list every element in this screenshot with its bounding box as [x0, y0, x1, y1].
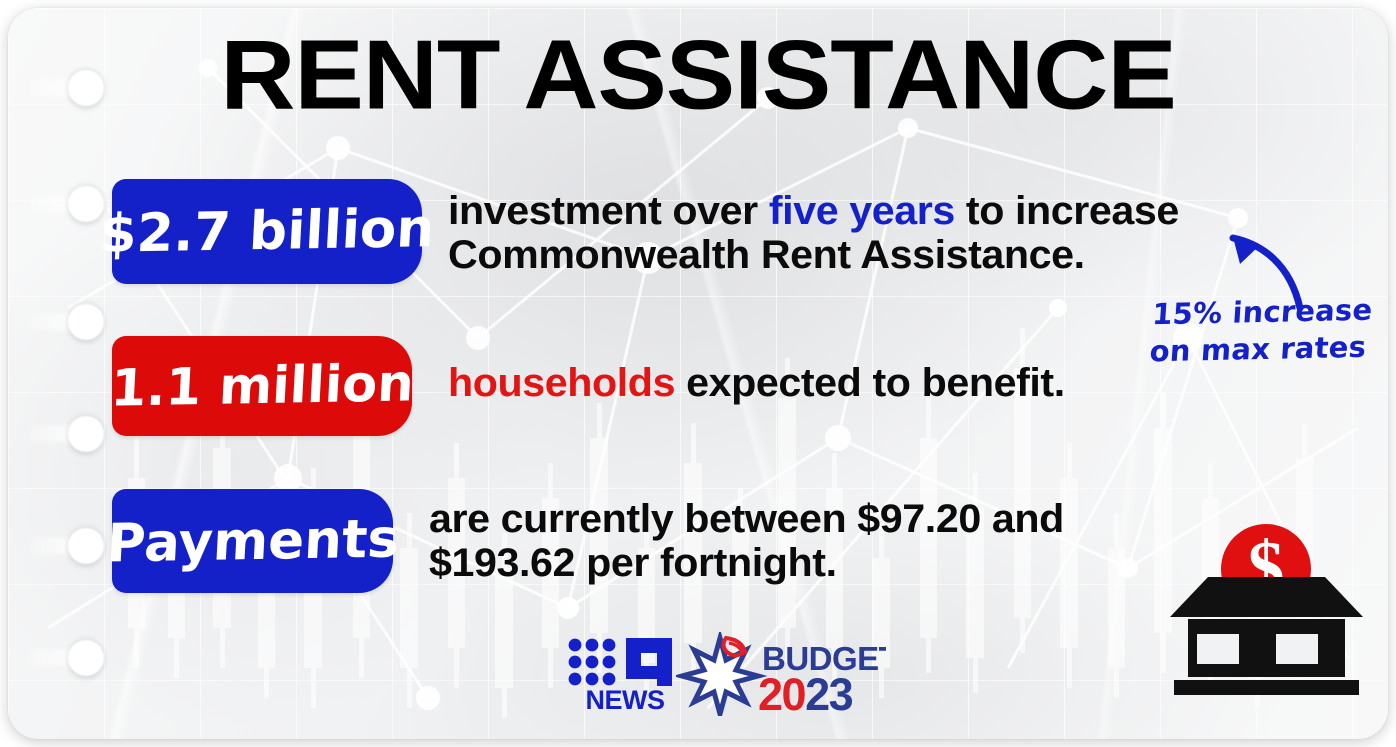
badge-payments: Payments [112, 489, 393, 593]
fact-text-investment: investment over five years to increase C… [448, 189, 1179, 278]
fact-text-line: $193.62 per fortnight. [429, 541, 1064, 585]
badge-amount-2-7-billion: $2.7 billion [112, 179, 422, 284]
text-segment: to increase [955, 189, 1179, 233]
fact-text-households: households expected to benefit. [448, 361, 1065, 405]
text-segment: investment over [448, 189, 769, 233]
badge-amount-1-1-million: 1.1 million [112, 336, 412, 436]
bank-with-dollar-coin-icon: $ [1164, 514, 1369, 719]
page-title: RENT ASSISTANCE [8, 26, 1388, 125]
annotation-15-percent-increase: 15% increase on max rates [1149, 292, 1374, 371]
nine-news-logo: NEWS [566, 636, 684, 712]
fact-row-investment: $2.7 billion investment over five years … [112, 179, 1158, 284]
fact-row-payments: Payments are currently between $97.20 an… [112, 489, 1045, 593]
budget-2023-logo: BUDGET 2023 [676, 632, 886, 716]
badge-label: $2.7 billion [98, 198, 436, 265]
svg-text:NEWS: NEWS [586, 685, 665, 712]
annotation-line: 15% increase [1151, 292, 1374, 334]
badge-label: 1.1 million [109, 354, 415, 418]
fact-text-line: are currently between $97.20 and [429, 497, 1064, 541]
highlight-five-years: five years [769, 189, 955, 233]
text-segment: expected to benefit. [675, 361, 1065, 405]
badge-label: Payments [105, 508, 400, 574]
infographic-card: RENT ASSISTANCE $2.7 billion investment … [8, 8, 1388, 739]
fact-text-payments: are currently between $97.20 and $193.62… [429, 497, 1064, 586]
punch-hole [30, 528, 104, 564]
logo-strip: NEWS BUDGET 2023 [556, 628, 876, 720]
punch-hole [30, 640, 104, 676]
fact-text-line: Commonwealth Rent Assistance. [448, 233, 1179, 277]
svg-text:2023: 2023 [758, 669, 853, 716]
fact-text-line: households expected to benefit. [448, 361, 1065, 405]
burst-star-icon [682, 638, 758, 714]
fact-row-households: 1.1 million households expected to benef… [112, 336, 1047, 436]
punch-hole [30, 416, 104, 452]
punch-hole [30, 304, 104, 340]
highlight-households: households [448, 361, 675, 405]
annotation-line: on max rates [1149, 329, 1372, 371]
fact-text-line: investment over five years to increase [448, 189, 1179, 233]
punch-hole [30, 186, 104, 222]
